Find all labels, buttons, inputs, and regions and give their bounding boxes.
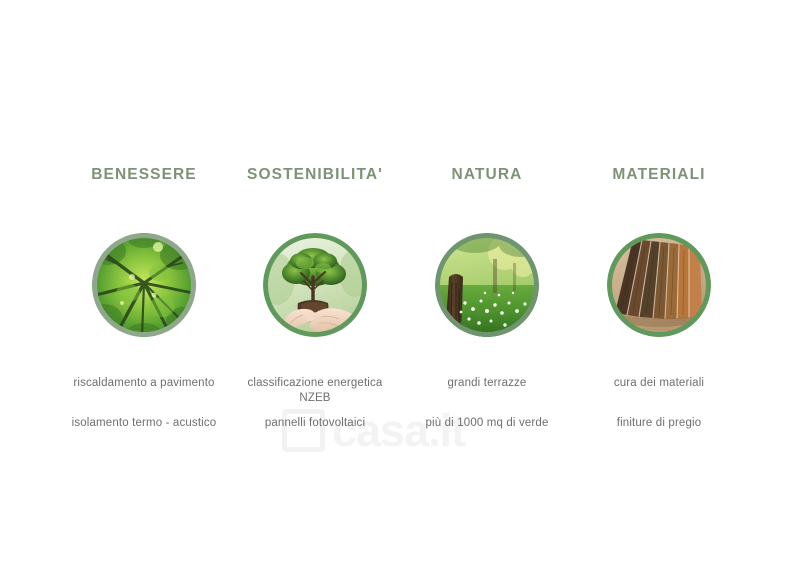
medallion-wrapper: [394, 232, 580, 338]
medallion-wrapper: [222, 232, 408, 338]
hands-holding-tree-photo: [263, 233, 367, 337]
feature-caption-primary: grandi terrazze: [394, 376, 580, 391]
feature-column-natura: NATURA: [394, 165, 580, 338]
column-title: BENESSERE: [51, 165, 237, 185]
caption-text: classificazione energetica: [248, 377, 383, 389]
caption-text-line2: NZEB: [222, 391, 408, 406]
column-title: MATERIALI: [566, 165, 752, 185]
feature-caption-primary: cura dei materiali: [566, 376, 752, 391]
meadow-tree-image: [435, 233, 539, 337]
feature-caption-primary: classificazione energetica NZEB: [222, 376, 408, 406]
medallion-wrapper: [566, 232, 752, 338]
caption-text: pannelli fotovoltaici: [265, 417, 365, 429]
caption-text: isolamento termo - acustico: [72, 417, 217, 429]
features-board: BENESSERE: [0, 0, 800, 566]
wood-planks-photo: [607, 233, 711, 337]
medallion-wrapper: [51, 232, 237, 338]
feature-column-benessere: BENESSERE: [51, 165, 237, 338]
feature-column-sostenibilita: SOSTENIBILITA': [222, 165, 408, 338]
caption-text: più di 1000 mq di verde: [426, 417, 549, 429]
caption-text: cura dei materiali: [614, 377, 704, 389]
feature-caption-secondary: più di 1000 mq di verde: [394, 416, 580, 431]
wood-planks-image: [607, 233, 711, 337]
caption-text: riscaldamento a pavimento: [73, 377, 214, 389]
column-title: SOSTENIBILITA': [222, 165, 408, 185]
meadow-tree-photo: [435, 233, 539, 337]
feature-caption-secondary: isolamento termo - acustico: [51, 416, 237, 431]
forest-canopy-image: [92, 233, 196, 337]
caption-text: grandi terrazze: [448, 377, 527, 389]
feature-caption-secondary: finiture di pregio: [566, 416, 752, 431]
feature-caption-primary: riscaldamento a pavimento: [51, 376, 237, 391]
caption-text: finiture di pregio: [617, 417, 702, 429]
forest-canopy-photo: [92, 233, 196, 337]
hands-holding-tree-image: [263, 233, 367, 337]
column-title: NATURA: [394, 165, 580, 185]
feature-column-materiali: MATERIALI: [566, 165, 752, 338]
feature-caption-secondary: pannelli fotovoltaici: [222, 416, 408, 431]
